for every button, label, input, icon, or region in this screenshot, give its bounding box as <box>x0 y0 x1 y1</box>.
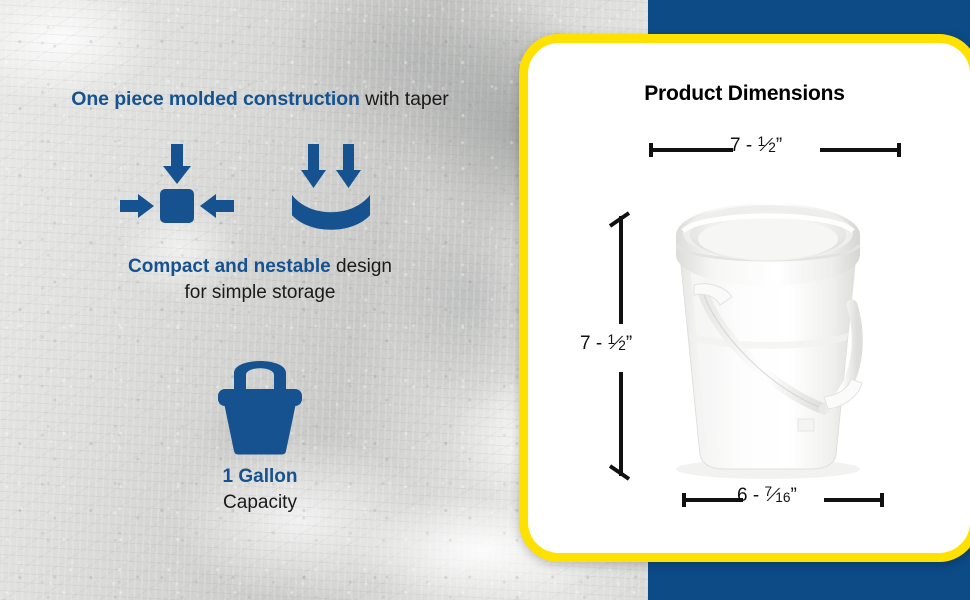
dimension-label-height: 7 - 1⁄2” <box>580 332 632 355</box>
dim-bottom-den: 16 <box>775 490 790 505</box>
dim-top-whole: 7 <box>730 135 741 156</box>
capacity-value: 1 Gallon <box>0 464 520 490</box>
capacity-label: Capacity <box>0 490 520 516</box>
dim-top-fraction: 1⁄2 <box>757 134 775 157</box>
left-feature-column: One piece molded construction with taper <box>0 0 520 600</box>
feature-capacity: 1 Gallon Capacity <box>0 464 520 515</box>
dim-bottom-unit: ” <box>790 485 796 506</box>
feature2-bold: Compact and nestable <box>128 256 331 277</box>
taper-compression-icon <box>118 142 236 234</box>
feature2-rest: design <box>331 256 392 277</box>
bucket-capacity-icon <box>0 345 520 455</box>
dim-bottom-fraction: 7⁄16 <box>764 484 790 507</box>
feature-compact-nestable: Compact and nestable design for simple s… <box>0 254 520 305</box>
infographic-stage: One piece molded construction with taper <box>0 0 970 600</box>
dim-height-fraction: 1⁄2 <box>607 332 625 355</box>
dim-height-unit: ” <box>626 333 632 354</box>
dim-top-unit: ” <box>776 135 782 156</box>
headline-bold: One piece molded construction <box>71 88 360 110</box>
headline-one-piece: One piece molded construction with taper <box>0 88 520 111</box>
nesting-stack-icon <box>288 142 374 234</box>
product-image-bucket <box>648 183 918 483</box>
page-title: Product Dimensions <box>519 82 970 106</box>
dim-bottom-dash: - <box>753 485 759 506</box>
dim-height-dash: - <box>596 333 602 354</box>
feature-icon-row <box>0 140 520 235</box>
dimension-label-bottom: 6 - 7⁄16” <box>737 484 797 507</box>
dimension-label-top: 7 - 1⁄2” <box>730 134 782 157</box>
dim-bottom-whole: 6 <box>737 485 748 506</box>
dim-top-dash: - <box>746 135 752 156</box>
headline-rest: with taper <box>360 88 449 110</box>
dim-height-whole: 7 <box>580 333 591 354</box>
feature2-line2: for simple storage <box>184 282 335 303</box>
